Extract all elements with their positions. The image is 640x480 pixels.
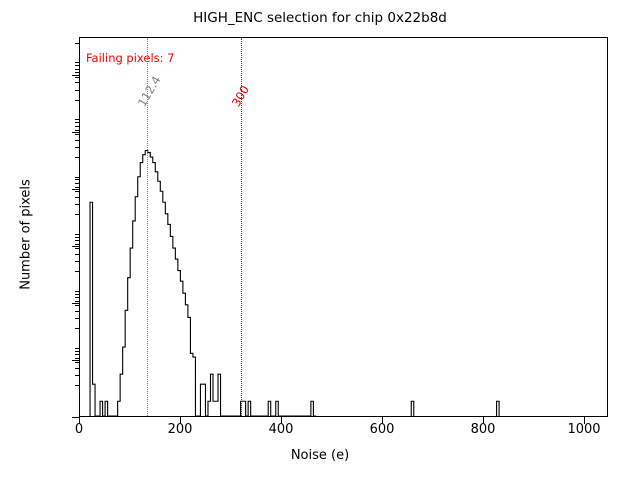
x-tick-label-800: 800: [471, 422, 496, 437]
y-tick-mark: [72, 132, 79, 133]
outlier-bars: [411, 401, 499, 416]
y-tick-mark: [72, 417, 79, 418]
y-tick-mark: [72, 189, 79, 190]
x-tick-label-200: 200: [168, 422, 193, 437]
x-axis-label: Noise (e): [0, 448, 640, 463]
plot-area: [79, 37, 608, 417]
y-tick-mark: [72, 303, 79, 304]
x-tick-label-400: 400: [269, 422, 294, 437]
y-axis-label: Number of pixels: [19, 125, 34, 345]
x-tick-label-0: 0: [75, 422, 83, 437]
x-tick-label-1000: 1000: [567, 422, 600, 437]
outlier-bar: [411, 401, 414, 416]
x-tick-label-600: 600: [370, 422, 395, 437]
y-tick-mark: [72, 246, 79, 247]
y-tick-mark: [72, 360, 79, 361]
chart-figure: HIGH_ENC selection for chip 0x22b8d Numb…: [0, 0, 640, 480]
histogram-series: [80, 38, 607, 416]
chart-title: HIGH_ENC selection for chip 0x22b8d: [0, 10, 640, 26]
outlier-bar: [497, 401, 500, 416]
failing-pixels-note: Failing pixels: 7: [86, 51, 175, 65]
